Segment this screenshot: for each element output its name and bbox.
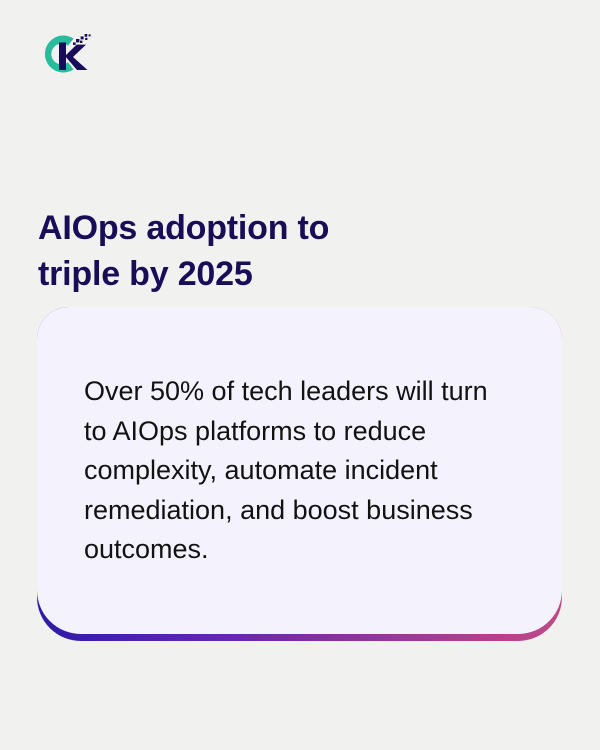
ck-logo	[36, 26, 94, 82]
stat-card: Over 50% of tech leaders will turn to AI…	[37, 307, 562, 641]
card-surface: Over 50% of tech leaders will turn to AI…	[37, 307, 562, 634]
card-body-text: Over 50% of tech leaders will turn to AI…	[84, 372, 514, 570]
slide-canvas: AIOps adoption to triple by 2025 Over 50…	[0, 0, 600, 750]
page-title: AIOps adoption to triple by 2025	[38, 205, 458, 297]
